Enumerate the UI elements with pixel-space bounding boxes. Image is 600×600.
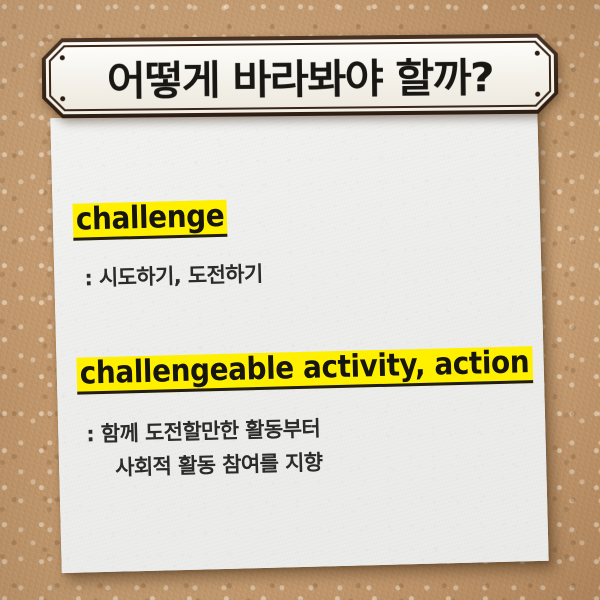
slide-canvas: challenge : 시도하기, 도전하기 challengeable act… <box>0 0 600 600</box>
term-row: challengeable activity, action <box>76 346 526 394</box>
term-highlight-challengeable-activity-action: challengeable activity, action <box>76 346 532 395</box>
term-highlight-challenge: challenge <box>72 200 227 241</box>
vocab-entry-challengeable-activity: challengeable activity, action : 함께 도전할만… <box>76 346 528 484</box>
gloss-challenge-line-1: : 시도하기, 도전하기 <box>84 253 524 294</box>
term-row: challenge <box>72 192 522 240</box>
gloss-challengeable-line-2: 사회적 활동 참여를 지향 <box>115 443 529 483</box>
paper-card: challenge : 시도하기, 도전하기 challengeable act… <box>50 106 548 573</box>
page-title: 어떻게 바라봐야 할까? <box>36 42 564 109</box>
vocab-entry-challenge: challenge : 시도하기, 도전하기 <box>72 192 523 294</box>
title-plaque: 어떻게 바라봐야 할까? <box>42 34 559 119</box>
card-content: challenge : 시도하기, 도전하기 challengeable act… <box>50 106 548 573</box>
